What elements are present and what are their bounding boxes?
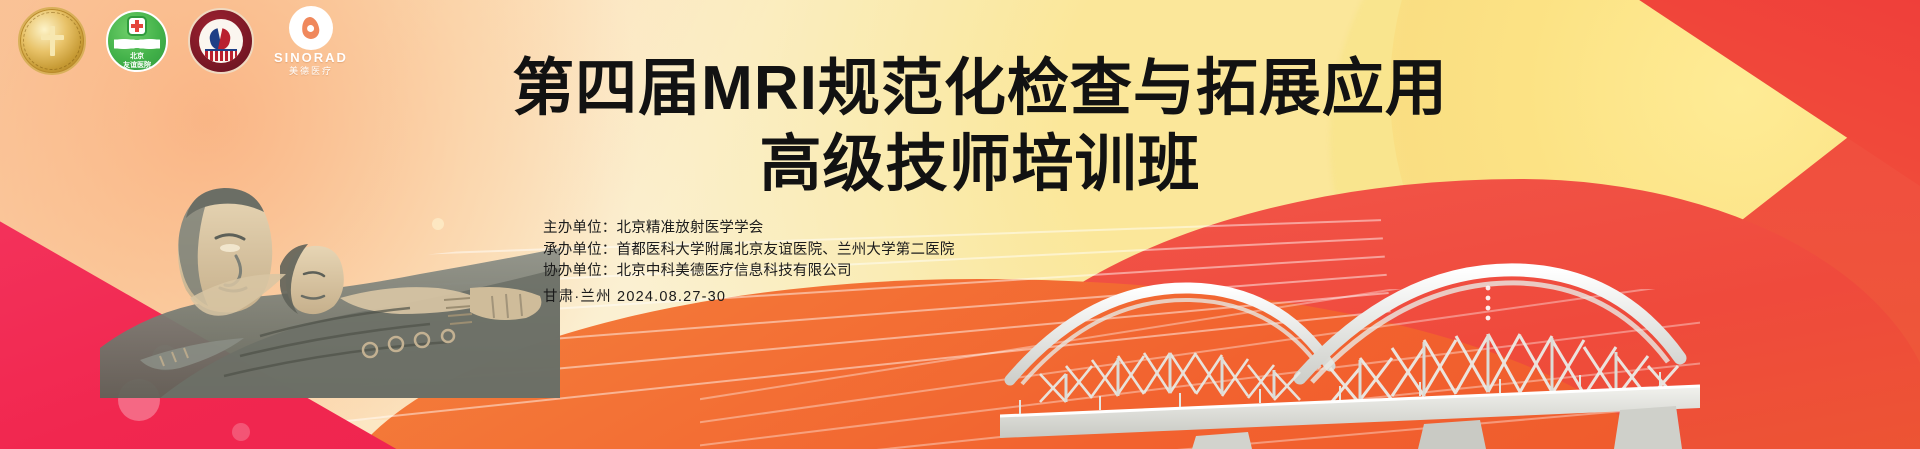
- zhongshan-bridge-illustration: [1000, 170, 1700, 449]
- reclining-buddha-illustration: [40, 98, 560, 398]
- organizer-info-block: 主办单位：北京精准放射医学学会 承办单位：首都医科大学附属北京友谊医院、兰州大学…: [543, 218, 955, 308]
- decorative-dot: [232, 423, 250, 441]
- gate-building-icon: [205, 49, 237, 61]
- beijing-friendship-hospital-logo[interactable]: 北京 友谊医院: [106, 10, 168, 72]
- organizer-organization-line: 承办单位：首都医科大学附属北京友谊医院、兰州大学第二医院: [543, 240, 955, 262]
- date-location-line: 甘肃·兰州 2024.08.27-30: [543, 287, 955, 309]
- organizer-logo-row: 北京 友谊医院 SINORAD 美德医疗: [18, 6, 348, 76]
- friendship-hospital-line1: 北京: [130, 53, 144, 61]
- dove-icon: [114, 36, 160, 52]
- host-organization-line: 主办单位：北京精准放射医学学会: [543, 218, 955, 240]
- lanzhou-university-second-hospital-logo[interactable]: [188, 8, 254, 74]
- sinorad-wordmark: SINORAD: [274, 51, 348, 65]
- precision-radiology-society-seal[interactable]: [18, 7, 86, 75]
- conference-banner: 北京 友谊医院 SINORAD 美德医疗 第四届MRI规范化检查与拓展应用 高级…: [0, 0, 1920, 449]
- sinorad-eye-icon: [289, 6, 333, 50]
- friendship-hospital-line2: 友谊医院: [123, 62, 151, 70]
- co-organizer-organization-line: 协办单位：北京中科美德医疗信息科技有限公司: [543, 261, 955, 283]
- sinorad-subword: 美德医疗: [289, 66, 333, 76]
- seal-cross-icon: [39, 26, 65, 56]
- sinorad-logo[interactable]: SINORAD 美德医疗: [274, 6, 348, 76]
- medical-cross-icon: [129, 18, 145, 34]
